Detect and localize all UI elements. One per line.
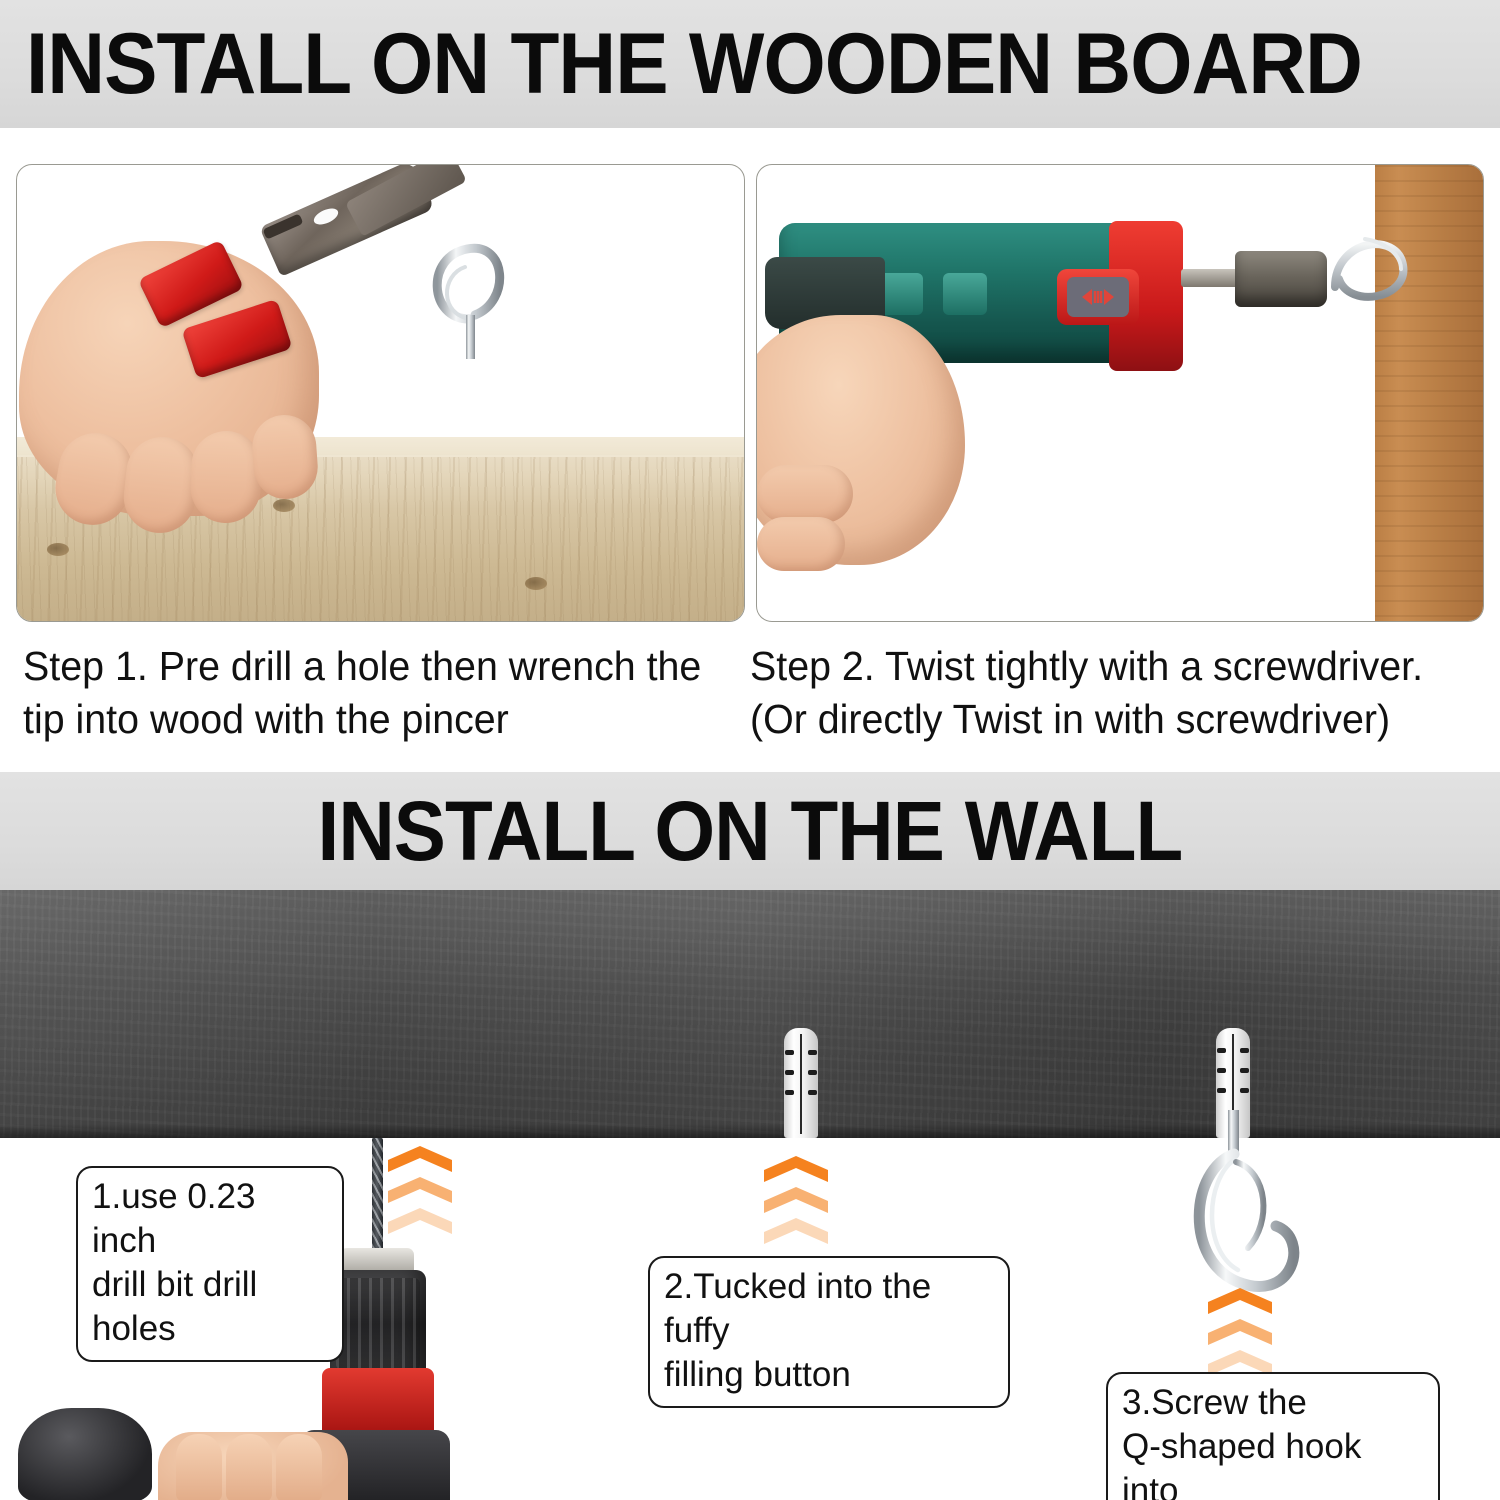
wood-knot <box>47 543 69 556</box>
chevron-up-icon <box>764 1218 828 1244</box>
drill-red-collar <box>322 1368 434 1438</box>
wood-step-photo-row <box>16 164 1484 622</box>
drill-chuck <box>330 1270 426 1378</box>
wall-anchor-plug-middle <box>784 1028 818 1138</box>
chevron-up-icon <box>1208 1288 1272 1314</box>
section-header-wooden-board: INSTALL ON THE WOODEN BOARD <box>0 0 1500 128</box>
drill-bit <box>372 1138 383 1260</box>
chevron-up-icon <box>388 1177 452 1203</box>
section-header-wall: INSTALL ON THE WALL <box>0 772 1500 890</box>
chevron-stack-1 <box>388 1146 452 1239</box>
finger <box>250 413 320 501</box>
anchor-rib <box>785 1050 794 1055</box>
anchor-rib <box>785 1090 794 1095</box>
finger <box>757 465 853 523</box>
anchor-rib <box>1240 1048 1249 1053</box>
chevron-stack-3 <box>1208 1288 1272 1381</box>
wood-knot <box>273 499 295 512</box>
wood-step-captions: Step 1. Pre drill a hole then wrench the… <box>0 640 1500 760</box>
callout-2-insert-anchor: 2.Tucked into the fuffy filling button <box>648 1256 1010 1408</box>
finger <box>757 517 845 571</box>
anchor-rib <box>808 1070 817 1075</box>
anchor-rib <box>808 1090 817 1095</box>
anchor-rib <box>1240 1068 1249 1073</box>
callout-1-drill-holes: 1.use 0.23 inch drill bit drill holes <box>76 1166 344 1362</box>
screwdriver-ridge <box>943 273 987 315</box>
chevron-up-icon <box>764 1156 828 1182</box>
instruction-infographic: INSTALL ON THE WOODEN BOARD <box>0 0 1500 1500</box>
wooden-board-heading: INSTALL ON THE WOODEN BOARD <box>26 21 1362 107</box>
finger <box>176 1434 222 1500</box>
chevron-up-icon <box>764 1187 828 1213</box>
chevron-up-icon <box>1208 1319 1272 1345</box>
anchor-seam <box>800 1034 802 1134</box>
anchor-rib <box>1217 1088 1226 1093</box>
anchor-rib <box>1217 1048 1226 1053</box>
step2-photo <box>756 164 1485 622</box>
step2-caption: Step 2. Twist tightly with a screwdriver… <box>750 640 1470 760</box>
step1-photo <box>16 164 745 622</box>
wood-knot <box>525 577 547 590</box>
finger <box>276 1434 322 1500</box>
chevron-up-icon <box>388 1208 452 1234</box>
callout-3-screw-hook: 3.Screw the Q-shaped hook into the fuffy… <box>1106 1372 1440 1500</box>
concrete-wall <box>0 890 1500 1138</box>
screwdriver-ridge <box>879 273 923 315</box>
anchor-rib <box>785 1070 794 1075</box>
wall-heading: INSTALL ON THE WALL <box>318 789 1183 873</box>
q-hook-being-driven <box>1305 221 1485 351</box>
anchor-rib <box>1217 1068 1226 1073</box>
anchor-rib <box>808 1050 817 1055</box>
direction-arrows-icon <box>1067 277 1129 317</box>
finger <box>226 1434 272 1500</box>
drill-battery-pack <box>18 1408 152 1500</box>
anchor-rib <box>1240 1088 1249 1093</box>
chevron-up-icon <box>388 1146 452 1172</box>
chevron-stack-2 <box>764 1156 828 1249</box>
step1-caption: Step 1. Pre drill a hole then wrench the… <box>0 640 720 760</box>
q-shaped-hook-screw <box>421 223 517 473</box>
